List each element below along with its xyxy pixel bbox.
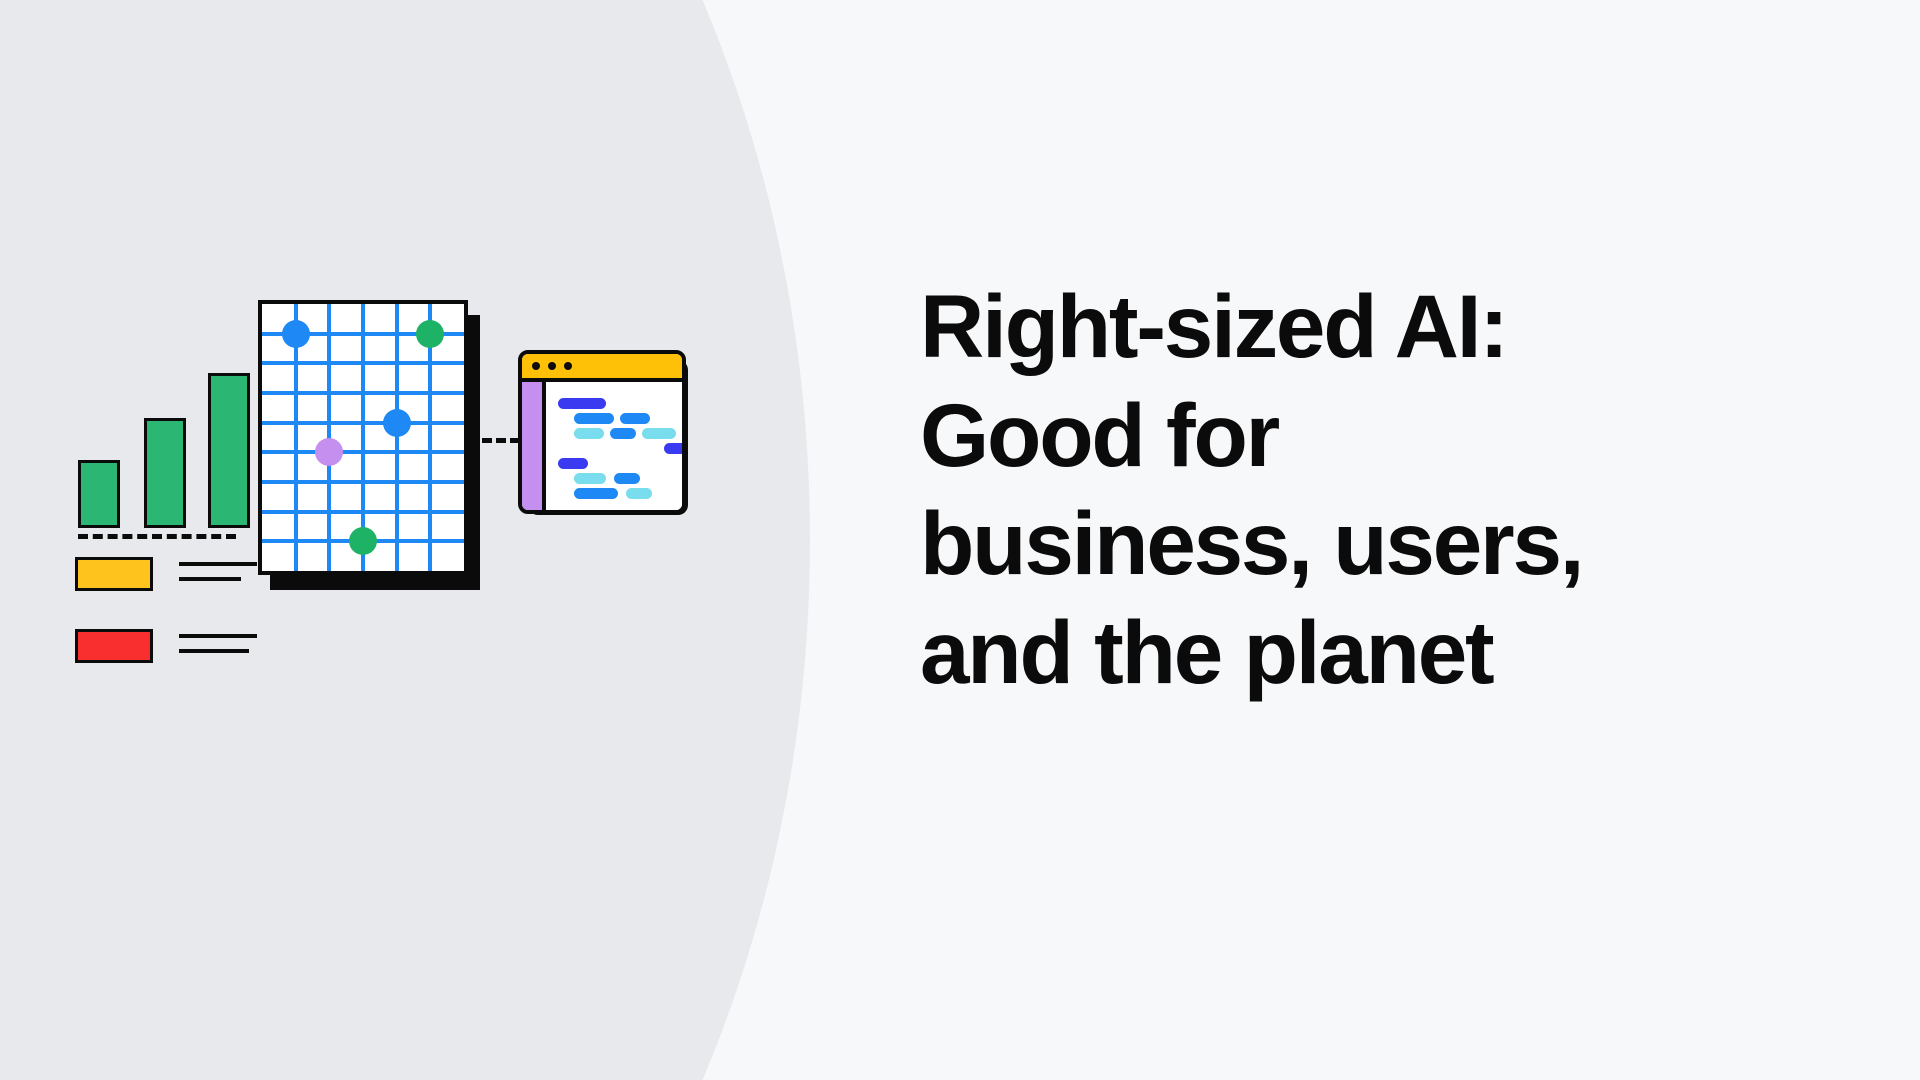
legend-line-yellow-2 — [179, 577, 241, 581]
code-line-7-token-2 — [626, 488, 652, 499]
data-grid-card — [258, 300, 468, 575]
legend-line-red-1 — [179, 634, 257, 638]
legend-swatch-red — [75, 629, 153, 663]
bar-chart-bar-2 — [144, 418, 186, 528]
page-title-line-1: Right-sized AI: — [920, 272, 1820, 381]
window-minimize-icon[interactable] — [548, 362, 556, 370]
code-line-1-token-1 — [558, 398, 606, 409]
code-window-sidebar — [522, 382, 546, 514]
grid-line-vertical — [395, 304, 399, 571]
dashed-connector — [468, 438, 520, 443]
point-blue-1 — [282, 320, 310, 348]
code-line-6-token-1 — [574, 473, 606, 484]
grid-line-horizontal — [262, 450, 464, 454]
grid-line-horizontal — [262, 361, 464, 365]
page-title-line-2: Good for — [920, 381, 1820, 490]
illustration — [0, 0, 880, 1080]
point-green-1 — [416, 320, 444, 348]
page-title: Right-sized AI:Good forbusiness, users,a… — [920, 272, 1820, 706]
code-line-3-token-1 — [574, 428, 604, 439]
code-line-5-token-1 — [558, 458, 588, 469]
point-purple-1 — [315, 438, 343, 466]
code-line-6-token-2 — [614, 473, 640, 484]
code-line-3-token-3 — [642, 428, 676, 439]
grid-line-horizontal — [262, 391, 464, 395]
code-line-3-token-2 — [610, 428, 636, 439]
grid-line-horizontal — [262, 480, 464, 484]
code-line-2-token-2 — [620, 413, 650, 424]
code-line-7-token-1 — [574, 488, 618, 499]
legend-swatch-yellow — [75, 557, 153, 591]
bar-chart-bar-1 — [78, 460, 120, 528]
code-window-body — [522, 382, 682, 514]
code-line-4-token-1 — [664, 443, 686, 454]
code-line-2-token-1 — [574, 413, 614, 424]
slide-canvas: Right-sized AI:Good forbusiness, users,a… — [0, 0, 1920, 1080]
window-close-icon[interactable] — [532, 362, 540, 370]
window-maximize-icon[interactable] — [564, 362, 572, 370]
grid-line-horizontal — [262, 421, 464, 425]
legend-line-red-2 — [179, 649, 249, 653]
grid-line-horizontal — [262, 510, 464, 514]
code-window — [518, 350, 686, 514]
code-window-canvas — [546, 382, 682, 514]
legend-line-yellow-1 — [179, 562, 257, 566]
point-green-2 — [349, 527, 377, 555]
code-window-titlebar — [522, 354, 682, 382]
bar-chart-bar-3 — [208, 373, 250, 528]
page-title-line-3: business, users, — [920, 489, 1820, 598]
point-blue-2 — [383, 409, 411, 437]
dashed-divider-bars — [78, 534, 236, 539]
page-title-line-4: and the planet — [920, 598, 1820, 707]
